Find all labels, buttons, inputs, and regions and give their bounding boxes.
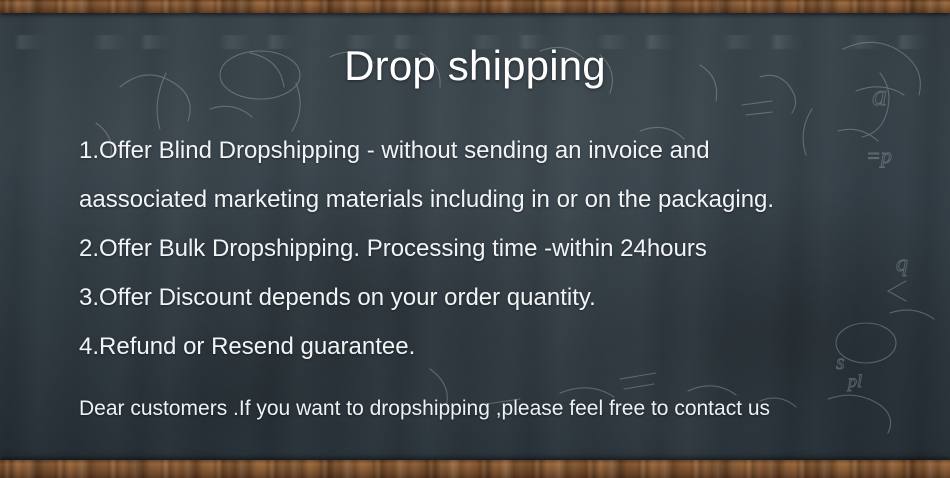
policy-line: 1.Offer Blind Dropshipping - without sen… (79, 126, 910, 175)
banner-content: Drop shipping 1.Offer Blind Dropshipping… (0, 13, 950, 460)
policy-line: 3.Offer Discount depends on your order q… (79, 273, 910, 322)
wood-frame-top (0, 0, 950, 13)
policy-line: aassociated marketing materials includin… (79, 175, 910, 224)
contact-footer-text: Dear customers .If you want to dropshipp… (79, 394, 910, 424)
wood-frame-bottom (0, 460, 950, 478)
policy-line: 2.Offer Bulk Dropshipping. Processing ti… (79, 224, 910, 273)
banner-title: Drop shipping (0, 43, 950, 89)
policy-list: 1.Offer Blind Dropshipping - without sen… (79, 126, 910, 371)
policy-line: 4.Refund or Resend guarantee. (79, 322, 910, 371)
dropshipping-banner: a =p q s pl (0, 0, 950, 478)
